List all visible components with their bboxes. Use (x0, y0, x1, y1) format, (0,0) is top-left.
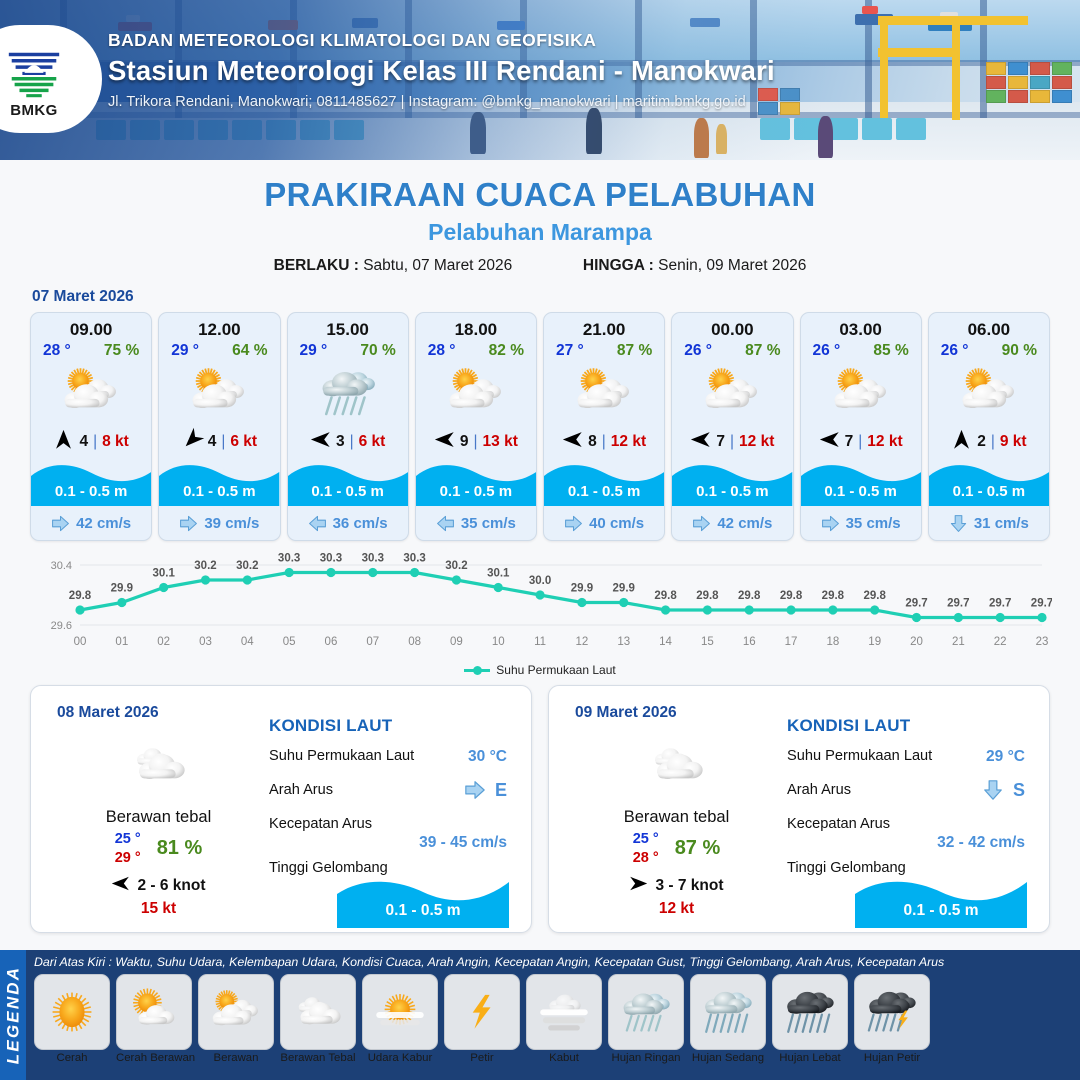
wave-height-value: 0.1 - 0.5 m (31, 483, 151, 500)
current-speed-label: Kecepatan Arus (787, 816, 890, 832)
sst-value: 30 °C (468, 748, 507, 766)
sea-condition-title: KONDISI LAUT (269, 716, 515, 736)
legenda-icon-kabut (526, 974, 602, 1050)
svg-text:29.9: 29.9 (613, 583, 635, 595)
hourly-humidity: 64 % (232, 342, 267, 360)
agency-name: BADAN METEOROLOGI KLIMATOLOGI DAN GEOFIS… (108, 30, 775, 51)
wave-height-band: 0.1 - 0.5 m (929, 460, 1049, 506)
daily-wave-band: 0.1 - 0.5 m (337, 872, 509, 928)
wave-height-value: 0.1 - 0.5 m (801, 483, 921, 500)
svg-text:29.8: 29.8 (822, 590, 845, 602)
wind-separator: | (474, 433, 478, 451)
wind-speed: 3 (336, 433, 345, 451)
svg-text:30.3: 30.3 (403, 553, 425, 565)
legenda-icon-udara-kabur (362, 974, 438, 1050)
svg-text:01: 01 (115, 636, 128, 648)
svg-text:15: 15 (701, 636, 714, 648)
legenda-item: Kabut (526, 974, 602, 1064)
bmkg-logo-mark (3, 39, 65, 101)
hourly-humidity: 85 % (873, 342, 908, 360)
daily-current-speed-value: 39 - 45 cm/s (419, 834, 507, 852)
hourly-humidity: 82 % (489, 342, 524, 360)
svg-text:30.3: 30.3 (320, 553, 342, 565)
hourly-temperature: 28 ° (43, 342, 71, 360)
svg-text:30.1: 30.1 (487, 568, 510, 580)
sst-label: Suhu Permukaan Laut (787, 748, 932, 764)
legenda-side-label: LEGENDA (3, 966, 23, 1065)
page-header: BMKG BADAN METEOROLOGI KLIMATOLOGI DAN G… (0, 0, 1080, 160)
hourly-time: 15.00 (288, 313, 408, 342)
wind-direction-icon (182, 429, 203, 455)
current-speed: 36 cm/s (333, 515, 388, 532)
current-direction-icon (564, 514, 583, 533)
wind-direction-icon (310, 429, 331, 455)
hourly-temperature: 26 ° (684, 342, 712, 360)
wave-height-value: 0.1 - 0.5 m (672, 483, 792, 500)
daily-weather-icon (569, 734, 784, 796)
legenda-caption: Cerah (34, 1052, 110, 1064)
daily-wind-gust: 15 kt (51, 900, 266, 918)
hourly-weather-icon (544, 362, 664, 424)
wind-direction-icon (562, 429, 583, 455)
svg-text:10: 10 (492, 636, 505, 648)
hourly-card: 21.0027 °87 %8|12 kt0.1 - 0.5 m40 cm/s (543, 312, 665, 541)
legenda-icon-hujan-lebat (772, 974, 848, 1050)
current-direction-icon (949, 514, 968, 533)
svg-text:29.7: 29.7 (1031, 598, 1052, 610)
svg-text:04: 04 (241, 636, 254, 648)
legenda-caption: Udara Kabur (362, 1052, 438, 1064)
legenda-note: Dari Atas Kiri : Waktu, Suhu Udara, Kele… (34, 955, 1074, 969)
wind-speed: 2 (977, 433, 986, 451)
current-speed: 31 cm/s (974, 515, 1029, 532)
legenda-caption: Berawan Tebal (280, 1052, 356, 1064)
current-direction-label: Arah Arus (787, 782, 851, 798)
daily-forecast-card: 09 Maret 2026Berawan tebal25 °28 °87 %3 … (548, 685, 1050, 933)
svg-text:30.2: 30.2 (445, 560, 467, 572)
wave-height-value: 0.1 - 0.5 m (544, 483, 664, 500)
legenda-caption: Cerah Berawan (116, 1052, 192, 1064)
wave-height-value: 0.1 - 0.5 m (288, 483, 408, 500)
wind-direction-icon (434, 429, 455, 455)
sea-condition-title: KONDISI LAUT (787, 716, 1033, 736)
legenda-item: Hujan Sedang (690, 974, 766, 1064)
wind-separator: | (858, 433, 862, 451)
svg-text:00: 00 (74, 636, 87, 648)
legend-line-icon (464, 669, 490, 672)
hourly-weather-icon (159, 362, 279, 424)
legend-label: Suhu Permukaan Laut (496, 663, 615, 677)
contact-info: Jl. Trikora Rendani, Manokwari; 08114856… (108, 94, 775, 110)
wind-direction-icon (951, 429, 972, 455)
current-direction-icon (692, 514, 711, 533)
wind-gust: 12 kt (739, 433, 774, 451)
svg-text:29.9: 29.9 (111, 583, 133, 595)
svg-text:30.1: 30.1 (152, 568, 175, 580)
svg-text:12: 12 (576, 636, 589, 648)
current-speed: 39 cm/s (204, 515, 259, 532)
sst-value: 29 °C (986, 748, 1025, 766)
wave-height-band: 0.1 - 0.5 m (416, 460, 536, 506)
valid-from-label: BERLAKU : (274, 257, 359, 274)
legenda-caption: Hujan Sedang (690, 1052, 766, 1064)
svg-text:02: 02 (157, 636, 170, 648)
wind-direction-icon (53, 429, 74, 455)
legenda-icon-hujan-ringan (608, 974, 684, 1050)
daily-humidity: 87 % (675, 837, 721, 860)
daily-temp-max: 28 ° (633, 849, 659, 868)
hourly-temperature: 26 ° (941, 342, 969, 360)
sst-label: Suhu Permukaan Laut (269, 748, 414, 764)
legenda-caption: Hujan Lebat (772, 1052, 848, 1064)
daily-current-direction-icon (982, 779, 1004, 801)
hourly-time: 21.00 (544, 313, 664, 342)
current-speed: 40 cm/s (589, 515, 644, 532)
svg-text:09: 09 (450, 636, 463, 648)
legenda-item: Berawan (198, 974, 274, 1064)
legenda-icon-cerah-berawan (116, 974, 192, 1050)
legenda-side-tab: LEGENDA (0, 950, 26, 1080)
svg-text:03: 03 (199, 636, 212, 648)
hourly-time: 03.00 (801, 313, 921, 342)
daily-weather-icon (51, 734, 266, 796)
current-direction-icon (51, 514, 70, 533)
legenda-icon-berawan (198, 974, 274, 1050)
daily-wave-value: 0.1 - 0.5 m (337, 902, 509, 920)
legenda-item: Udara Kabur (362, 974, 438, 1064)
daily-temp-min: 25 ° (633, 830, 659, 849)
wind-speed: 4 (79, 433, 88, 451)
legenda-item: Cerah Berawan (116, 974, 192, 1064)
daily-current-speed-value: 32 - 42 cm/s (937, 834, 1025, 852)
hourly-temperature: 29 ° (300, 342, 328, 360)
wave-height-band: 0.1 - 0.5 m (288, 460, 408, 506)
wind-speed: 8 (588, 433, 597, 451)
hourly-weather-icon (31, 362, 151, 424)
current-direction-label: Arah Arus (269, 782, 333, 798)
hourly-temperature: 27 ° (556, 342, 584, 360)
wind-gust: 6 kt (230, 433, 257, 451)
wind-separator: | (991, 433, 995, 451)
hourly-humidity: 70 % (360, 342, 395, 360)
hourly-humidity: 87 % (745, 342, 780, 360)
svg-text:14: 14 (659, 636, 672, 648)
daily-date: 08 Maret 2026 (57, 704, 159, 722)
daily-temp-max: 29 ° (115, 849, 141, 868)
hourly-card: 18.0028 °82 %9|13 kt0.1 - 0.5 m35 cm/s (415, 312, 537, 541)
hourly-weather-icon (929, 362, 1049, 424)
wind-direction-icon (819, 429, 840, 455)
legenda-caption: Petir (444, 1052, 520, 1064)
daily-condition: Berawan tebal (51, 808, 266, 827)
svg-text:30.2: 30.2 (194, 560, 216, 572)
wave-height-band: 0.1 - 0.5 m (801, 460, 921, 506)
svg-text:30.0: 30.0 (529, 575, 551, 587)
svg-text:11: 11 (534, 636, 546, 648)
wave-height-value: 0.1 - 0.5 m (929, 483, 1049, 500)
legenda-icon-petir (444, 974, 520, 1050)
svg-text:29.8: 29.8 (864, 590, 887, 602)
current-direction-icon (308, 514, 327, 533)
wind-direction-icon (690, 429, 711, 455)
daily-forecast-row: 08 Maret 2026Berawan tebal25 °29 °81 %2 … (0, 677, 1080, 933)
wave-height-value: 0.1 - 0.5 m (416, 483, 536, 500)
wave-height-band: 0.1 - 0.5 m (544, 460, 664, 506)
hourly-time: 09.00 (31, 313, 151, 342)
svg-text:17: 17 (785, 636, 798, 648)
legenda-item: Berawan Tebal (280, 974, 356, 1064)
daily-current-direction-icon (464, 779, 486, 801)
svg-text:20: 20 (910, 636, 923, 648)
legenda-panel: LEGENDA Dari Atas Kiri : Waktu, Suhu Uda… (0, 950, 1080, 1080)
legenda-icon-berawan-tebal (280, 974, 356, 1050)
wind-gust: 12 kt (611, 433, 646, 451)
svg-text:30.3: 30.3 (362, 553, 384, 565)
wind-separator: | (730, 433, 734, 451)
hourly-time: 18.00 (416, 313, 536, 342)
legenda-item: Petir (444, 974, 520, 1064)
daily-temp-min: 25 ° (115, 830, 141, 849)
validity-period: BERLAKU : Sabtu, 07 Maret 2026 HINGGA : … (0, 257, 1080, 275)
hourly-forecast-row: 09.0028 °75 %4|8 kt0.1 - 0.5 m42 cm/s12.… (0, 312, 1080, 541)
hourly-time: 00.00 (672, 313, 792, 342)
svg-text:30.2: 30.2 (236, 560, 258, 572)
svg-text:06: 06 (325, 636, 338, 648)
current-direction-icon (821, 514, 840, 533)
current-speed: 42 cm/s (717, 515, 772, 532)
current-direction-icon (436, 514, 455, 533)
daily-wind-gust: 12 kt (569, 900, 784, 918)
station-name: Stasiun Meteorologi Kelas III Rendani - … (108, 55, 775, 87)
hourly-card: 09.0028 °75 %4|8 kt0.1 - 0.5 m42 cm/s (30, 312, 152, 541)
wind-separator: | (221, 433, 225, 451)
hourly-weather-icon (288, 362, 408, 424)
wind-gust: 6 kt (359, 433, 386, 451)
svg-text:23: 23 (1036, 636, 1049, 648)
hourly-temperature: 26 ° (813, 342, 841, 360)
bmkg-logo-text: BMKG (10, 102, 57, 119)
wind-speed: 7 (845, 433, 854, 451)
wave-height-band: 0.1 - 0.5 m (31, 460, 151, 506)
hourly-weather-icon (801, 362, 921, 424)
wind-separator: | (93, 433, 97, 451)
legenda-item: Hujan Ringan (608, 974, 684, 1064)
legenda-caption: Berawan (198, 1052, 274, 1064)
hourly-weather-icon (672, 362, 792, 424)
daily-wave-value: 0.1 - 0.5 m (855, 902, 1027, 920)
wave-height-band: 0.1 - 0.5 m (672, 460, 792, 506)
legenda-item: Hujan Lebat (772, 974, 848, 1064)
hourly-date: 07 Maret 2026 (32, 288, 1080, 306)
wind-gust: 9 kt (1000, 433, 1027, 451)
current-speed: 35 cm/s (846, 515, 901, 532)
svg-text:08: 08 (408, 636, 421, 648)
legenda-item: Hujan Petir (854, 974, 930, 1064)
hourly-weather-icon (416, 362, 536, 424)
legenda-items: CerahCerah BerawanBerawanBerawan TebalUd… (34, 974, 1074, 1064)
svg-text:21: 21 (952, 636, 965, 648)
wind-speed: 9 (460, 433, 469, 451)
wind-speed: 7 (716, 433, 725, 451)
legenda-icon-hujan-sedang (690, 974, 766, 1050)
wind-speed: 4 (208, 433, 217, 451)
daily-current-direction-value: S (1013, 780, 1025, 801)
hourly-card: 06.0026 °90 %2|9 kt0.1 - 0.5 m31 cm/s (928, 312, 1050, 541)
title-block: PRAKIRAAN CUACA PELABUHAN Pelabuhan Mara… (0, 176, 1080, 275)
wind-gust: 8 kt (102, 433, 129, 451)
current-direction-icon (179, 514, 198, 533)
svg-text:29.6: 29.6 (51, 620, 72, 632)
current-speed: 35 cm/s (461, 515, 516, 532)
legenda-icon-hujan-petir (854, 974, 930, 1050)
svg-text:29.8: 29.8 (654, 590, 677, 602)
daily-wind-direction-icon (629, 874, 648, 898)
svg-text:22: 22 (994, 636, 1007, 648)
page-title: PRAKIRAAN CUACA PELABUHAN (0, 176, 1080, 214)
hourly-time: 06.00 (929, 313, 1049, 342)
svg-text:29.7: 29.7 (947, 598, 969, 610)
svg-text:13: 13 (617, 636, 630, 648)
daily-date: 09 Maret 2026 (575, 704, 677, 722)
svg-text:05: 05 (283, 636, 296, 648)
svg-text:29.8: 29.8 (69, 590, 92, 602)
svg-text:18: 18 (826, 636, 839, 648)
svg-text:19: 19 (868, 636, 881, 648)
hourly-time: 12.00 (159, 313, 279, 342)
valid-from-value: Sabtu, 07 Maret 2026 (363, 257, 512, 274)
hourly-humidity: 87 % (617, 342, 652, 360)
hourly-temperature: 29 ° (171, 342, 199, 360)
svg-text:29.9: 29.9 (571, 583, 593, 595)
svg-text:16: 16 (743, 636, 756, 648)
svg-text:29.7: 29.7 (989, 598, 1011, 610)
valid-until-value: Senin, 09 Maret 2026 (658, 257, 806, 274)
wind-separator: | (602, 433, 606, 451)
legenda-icon-cerah (34, 974, 110, 1050)
hourly-temperature: 28 ° (428, 342, 456, 360)
sst-chart: 30.429.629.80029.90130.10230.20330.20430… (28, 551, 1052, 661)
wind-separator: | (350, 433, 354, 451)
hourly-card: 12.0029 °64 %4|6 kt0.1 - 0.5 m39 cm/s (158, 312, 280, 541)
svg-text:30.4: 30.4 (51, 560, 72, 572)
daily-current-direction-value: E (495, 780, 507, 801)
daily-humidity: 81 % (157, 837, 203, 860)
svg-text:07: 07 (366, 636, 379, 648)
port-name: Pelabuhan Marampa (0, 219, 1080, 246)
wave-height-value: 0.1 - 0.5 m (159, 483, 279, 500)
hourly-card: 00.0026 °87 %7|12 kt0.1 - 0.5 m42 cm/s (671, 312, 793, 541)
legenda-caption: Hujan Petir (854, 1052, 930, 1064)
hourly-card: 15.0029 °70 %3|6 kt0.1 - 0.5 m36 cm/s (287, 312, 409, 541)
svg-text:29.8: 29.8 (696, 590, 719, 602)
daily-wind-range: 3 - 7 knot (655, 877, 723, 895)
legenda-caption: Hujan Ringan (608, 1052, 684, 1064)
daily-forecast-card: 08 Maret 2026Berawan tebal25 °29 °81 %2 … (30, 685, 532, 933)
valid-until-label: HINGGA : (583, 257, 654, 274)
daily-wind-direction-icon (111, 874, 130, 898)
hourly-card: 03.0026 °85 %7|12 kt0.1 - 0.5 m35 cm/s (800, 312, 922, 541)
legenda-caption: Kabut (526, 1052, 602, 1064)
hourly-humidity: 75 % (104, 342, 139, 360)
svg-text:30.3: 30.3 (278, 553, 300, 565)
current-speed-label: Kecepatan Arus (269, 816, 372, 832)
wind-gust: 13 kt (483, 433, 518, 451)
wind-gust: 12 kt (867, 433, 902, 451)
daily-wind-range: 2 - 6 knot (137, 877, 205, 895)
current-speed: 42 cm/s (76, 515, 131, 532)
chart-legend: Suhu Permukaan Laut (0, 663, 1080, 677)
wave-height-band: 0.1 - 0.5 m (159, 460, 279, 506)
daily-wave-band: 0.1 - 0.5 m (855, 872, 1027, 928)
daily-condition: Berawan tebal (569, 808, 784, 827)
legenda-item: Cerah (34, 974, 110, 1064)
svg-text:29.8: 29.8 (780, 590, 803, 602)
svg-text:29.7: 29.7 (905, 598, 927, 610)
hourly-humidity: 90 % (1002, 342, 1037, 360)
svg-text:29.8: 29.8 (738, 590, 761, 602)
